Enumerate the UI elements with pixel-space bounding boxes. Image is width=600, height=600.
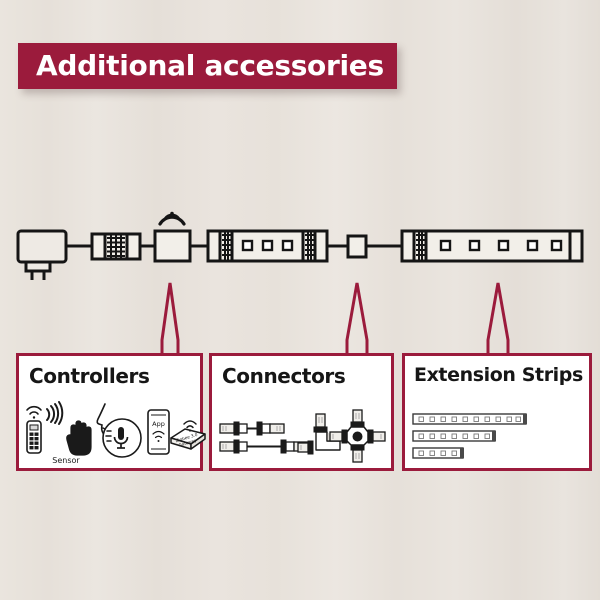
led-system-lineart (18, 212, 582, 280)
box-title-controllers: Controllers (29, 364, 149, 388)
callout-pointers (162, 283, 508, 355)
callout-pointer-extension (488, 283, 508, 355)
power-adapter-icon (18, 231, 66, 280)
connector-icon (92, 234, 140, 259)
motion-sensor-icon (47, 402, 91, 455)
wifi-signal-icon (160, 212, 184, 224)
callout-box-controllers: Controllers (16, 353, 203, 471)
page-root: Additional accessories (0, 0, 600, 600)
led-strip-segment-1 (208, 231, 327, 261)
extension-strips-row (405, 398, 589, 470)
callout-box-extension: Extension Strips (402, 353, 592, 471)
box-title-extension: Extension Strips (414, 364, 583, 386)
controllers-icon-row: Sensor (19, 398, 200, 470)
extension-strip-medium (413, 431, 496, 441)
box-title-connectors: Connectors (222, 364, 345, 388)
strip-connector-icon (348, 236, 366, 257)
extension-strip-long (413, 414, 527, 424)
callout-pointer-connectors (347, 283, 367, 355)
callout-pointer-controllers (162, 283, 178, 355)
straight-connector-icon (220, 422, 284, 435)
callout-box-connectors: Connectors (209, 353, 394, 471)
remote-control-icon (27, 407, 41, 453)
diagram-canvas (0, 0, 600, 600)
app-label: App (152, 420, 165, 428)
voice-control-icon (97, 404, 141, 457)
connectors-icon-row (212, 398, 391, 470)
gateway-device-icon: Zigbee 3.0 Gateway (171, 429, 205, 449)
controller-icon (155, 231, 190, 261)
app-gateway-icon: App Zigbee 3.0 Gateway (148, 410, 205, 454)
cable-connector-icon (220, 440, 308, 453)
led-strip-segment-2 (402, 231, 582, 261)
sensor-label: Sensor (52, 456, 80, 465)
cross-connector-icon (330, 410, 385, 462)
extension-strip-short (413, 448, 464, 458)
